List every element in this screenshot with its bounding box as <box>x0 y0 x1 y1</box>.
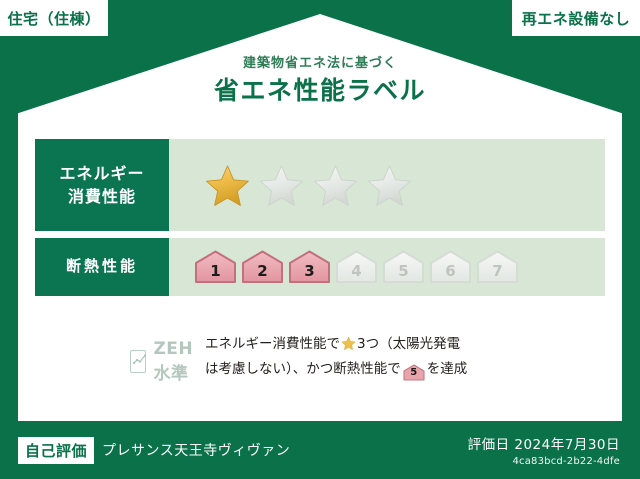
rank-badge-filled: 2 <box>240 248 285 286</box>
star-icon-empty <box>258 163 305 208</box>
tag-renewable-energy: 再エネ設備なし <box>512 0 640 36</box>
star-icon-empty <box>312 163 359 208</box>
rank-badge-value: 1 <box>210 262 220 286</box>
rank-badge-empty: 7 <box>475 248 520 286</box>
rank-badge-value: 5 <box>398 262 408 286</box>
building-name: プレサンス天王寺ヴィヴァン <box>102 440 290 460</box>
row-insulation-label: 断熱性能 <box>35 238 169 296</box>
heading-subtitle: 建築物省エネ法に基づく <box>0 56 640 72</box>
energy-performance-label: 住宅（住棟） 再エネ設備なし 建築物省エネ法に基づく 省エネ性能ラベル エネルギ… <box>0 0 640 479</box>
row-energy-consumption: エネルギー 消費性能 <box>35 139 605 231</box>
rank-badge-value: 2 <box>257 262 267 286</box>
zeh-label: ZEH水準 <box>153 339 205 384</box>
inline-star-icon <box>341 336 356 359</box>
evaluation-id: 4ca83bcd-2b22-4dfe <box>468 456 620 467</box>
row-energy-label-line1: エネルギー <box>59 162 144 185</box>
heading-title: 省エネ性能ラベル <box>0 77 640 106</box>
rank-badge-value: 6 <box>445 262 455 286</box>
insulation-rank-scale: 1234567 <box>169 238 605 296</box>
footer-left: 自己評価 プレサンス天王寺ヴィヴァン <box>0 437 468 464</box>
star-rating <box>169 139 605 231</box>
zeh-desc-line1-post: 3つ（太陽光発電 <box>357 336 460 352</box>
star-icon-filled <box>204 163 251 208</box>
zeh-mark: ZEH水準 <box>35 330 205 384</box>
footer-right: 評価日 2024年7月30日 4ca83bcd-2b22-4dfe <box>468 433 640 467</box>
evaluation-date: 評価日 2024年7月30日 <box>468 433 620 453</box>
tag-building-type: 住宅（住棟） <box>0 0 108 36</box>
zeh-section: ZEH水準 エネルギー消費性能で3つ（太陽光発電 は考慮しない）、かつ断熱性能で… <box>35 330 605 392</box>
rank-badge-value: 7 <box>492 262 502 286</box>
star-icon-empty <box>366 163 413 208</box>
row-energy-label: エネルギー 消費性能 <box>35 139 169 231</box>
label-footer: 自己評価 プレサンス天王寺ヴィヴァン 評価日 2024年7月30日 4ca83b… <box>0 421 640 479</box>
zeh-desc-line1-pre: エネルギー消費性能で <box>205 336 340 352</box>
rank-badge-empty: 5 <box>381 248 426 286</box>
zeh-desc-line2-pre: は考慮しない）、かつ断熱性能で <box>205 361 401 377</box>
rank-badge-empty: 6 <box>428 248 473 286</box>
row-insulation-performance: 断熱性能 1234567 <box>35 238 605 296</box>
zeh-description-line2: は考慮しない）、かつ断熱性能で5を達成 <box>205 359 605 381</box>
self-evaluation-badge: 自己評価 <box>18 437 94 464</box>
page-title: 建築物省エネ法に基づく 省エネ性能ラベル <box>0 56 640 105</box>
inline-rank-value: 5 <box>403 364 425 382</box>
rank-badge-value: 4 <box>351 262 361 286</box>
zeh-desc-line2-post: を達成 <box>427 361 468 377</box>
zeh-description: エネルギー消費性能で3つ（太陽光発電 は考慮しない）、かつ断熱性能で5を達成 <box>205 330 605 381</box>
rank-badge-empty: 4 <box>334 248 379 286</box>
rank-badge-value: 3 <box>304 262 314 286</box>
row-energy-label-line2: 消費性能 <box>68 185 136 208</box>
zeh-description-line1: エネルギー消費性能で3つ（太陽光発電 <box>205 334 605 359</box>
rank-badge-filled: 1 <box>193 248 238 286</box>
inline-rank-badge: 5 <box>403 364 425 380</box>
zeh-chart-icon <box>130 350 146 373</box>
rank-badge-filled: 3 <box>287 248 332 286</box>
